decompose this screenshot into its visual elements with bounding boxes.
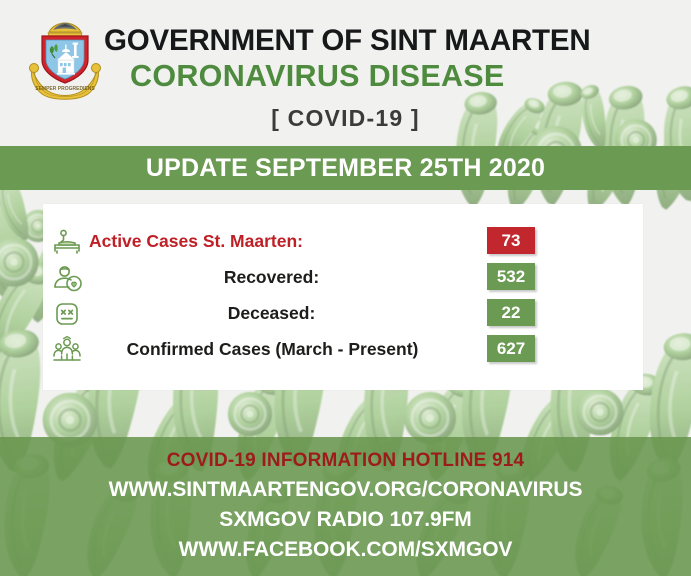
update-date-banner: UPDATE SEPTEMBER 25TH 2020 <box>0 146 691 190</box>
contact-footer: COVID-19 INFORMATION HOTLINE 914 WWW.SIN… <box>0 437 691 576</box>
stat-label-confirmed-cases: Confirmed Cases (March - Present) <box>85 331 460 367</box>
hotline-text: COVID-19 INFORMATION HOTLINE 914 <box>0 446 691 475</box>
stat-value-deceased: 22 <box>487 299 535 326</box>
hospital-bed-patient-icon <box>51 226 83 258</box>
page-title-government: GOVERNMENT OF SINT MAARTEN <box>104 24 674 58</box>
recovered-person-shield-icon <box>51 262 83 294</box>
radio-station-text: SXMGOV RADIO 107.9FM <box>0 505 691 535</box>
website-link[interactable]: WWW.SINTMAARTENGOV.ORG/CORONAVIRUS <box>0 475 691 505</box>
page-subtitle-covid: [ COVID-19 ] <box>0 104 691 132</box>
stat-label-recovered: Recovered: <box>89 259 454 295</box>
stat-label-active-cases: Active Cases St. Maarten: <box>89 223 489 259</box>
stat-label-deceased: Deceased: <box>89 295 454 331</box>
stat-row-active-cases: Active Cases St. Maarten: 73 <box>43 223 643 259</box>
stat-value-recovered: 532 <box>487 263 535 290</box>
facebook-link[interactable]: WWW.FACEBOOK.COM/SXMGOV <box>0 535 691 565</box>
deceased-face-x-eyes-icon <box>51 298 83 330</box>
sint-maarten-coat-of-arms-icon: SEMPER PROGREDIENS <box>28 16 102 108</box>
page-title-disease: CORONAVIRUS DISEASE <box>130 58 670 94</box>
statistics-card: Active Cases St. Maarten: 73 Recovered: … <box>43 204 643 390</box>
stat-row-deceased: Deceased: 22 <box>43 295 643 331</box>
stat-row-recovered: Recovered: 532 <box>43 259 643 295</box>
poster-header: SEMPER PROGREDIENS <box>0 0 691 146</box>
update-date-text: UPDATE SEPTEMBER 25TH 2020 <box>146 154 545 183</box>
svg-text:SEMPER PROGREDIENS: SEMPER PROGREDIENS <box>35 86 95 92</box>
group-of-people-icon <box>51 334 83 366</box>
covid-update-poster: SEMPER PROGREDIENS <box>0 0 691 576</box>
stat-value-confirmed-cases: 627 <box>487 335 535 362</box>
stat-value-active-cases: 73 <box>487 227 535 254</box>
stat-row-confirmed-cases: Confirmed Cases (March - Present) 627 <box>43 331 643 367</box>
